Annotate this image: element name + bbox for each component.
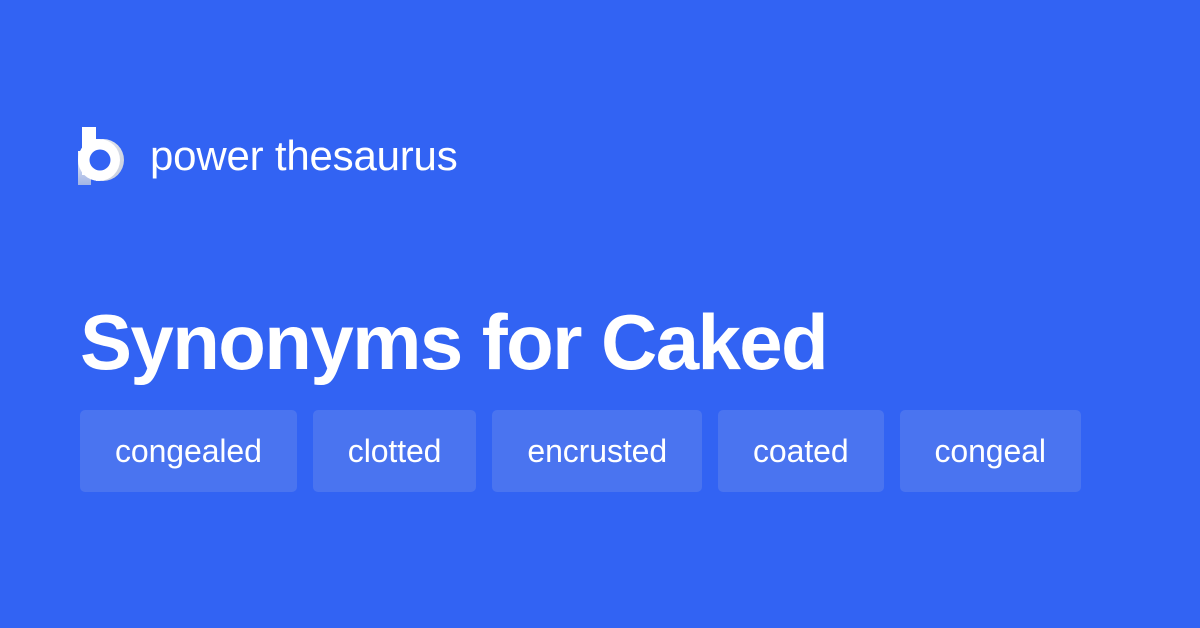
brand-name: Power thesaurus bbox=[150, 135, 458, 177]
power-thesaurus-b-logo-icon bbox=[78, 127, 124, 185]
synonym-chip[interactable]: encrusted bbox=[492, 410, 702, 492]
page-title: Synonyms for Caked bbox=[80, 299, 1120, 385]
synonym-chip[interactable]: coated bbox=[718, 410, 883, 492]
synonym-chip-list: congealed clotted encrusted coated conge… bbox=[80, 410, 1140, 492]
synonym-chip[interactable]: congeal bbox=[900, 410, 1081, 492]
page-root: Power thesaurus Synonyms for Caked conge… bbox=[0, 0, 1200, 628]
brand-lockup[interactable]: Power thesaurus bbox=[78, 126, 458, 186]
synonym-chip[interactable]: congealed bbox=[80, 410, 297, 492]
synonym-chip[interactable]: clotted bbox=[313, 410, 477, 492]
